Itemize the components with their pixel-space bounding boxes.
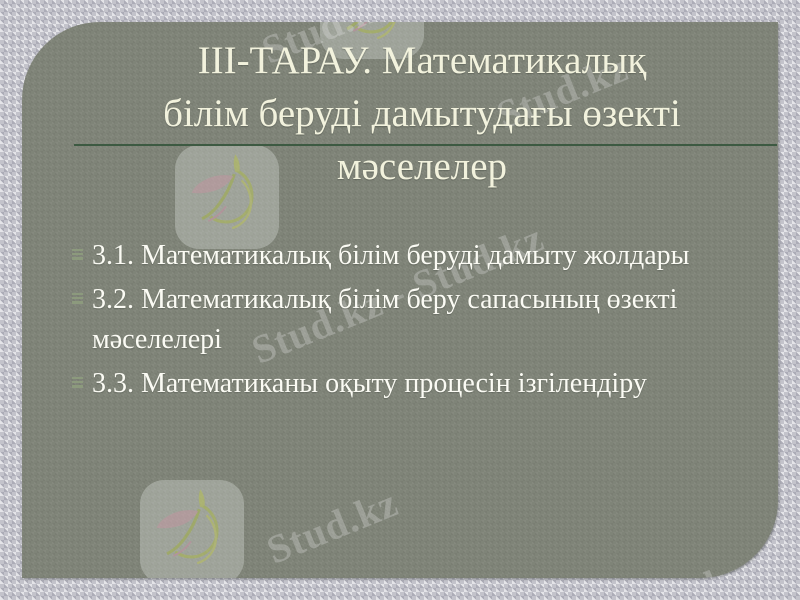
stud-kz-watermark: Stud.kz <box>610 549 755 578</box>
list-marker-icon <box>72 377 83 388</box>
list-marker-icon <box>72 293 83 304</box>
slide-title: III-ТАРАУ. Математикалық білім беруді да… <box>52 34 778 193</box>
presentation-slide: Stud.kzStud.kzStud.kz - Stud.kzStud.kzSt… <box>0 0 800 600</box>
list-marker-icon <box>72 249 83 260</box>
slide-bullet-list: 3.1. Математикалық білім беруді дамыту ж… <box>72 236 772 408</box>
hummingbird-logo-watermark-icon <box>140 480 244 578</box>
title-line-1: III-ТАРАУ. Математикалық <box>52 34 778 87</box>
list-item-label: 3.3. Математиканы оқыту процесін ізгілен… <box>92 364 647 404</box>
list-item: 3.2. Математикалық білім беру сапасының … <box>72 280 772 360</box>
title-divider-rule <box>74 144 777 146</box>
list-item: 3.3. Математиканы оқыту процесін ізгілен… <box>72 364 772 404</box>
slide-content-panel: Stud.kzStud.kzStud.kz - Stud.kzStud.kzSt… <box>22 22 778 578</box>
list-item-label: 3.1. Математикалық білім беруді дамыту ж… <box>92 236 689 276</box>
list-item-label: 3.2. Математикалық білім беру сапасының … <box>92 280 772 360</box>
title-line-2: білім беруді дамытудағы өзекті <box>52 87 778 140</box>
list-item: 3.1. Математикалық білім беруді дамыту ж… <box>72 236 772 276</box>
title-line-3: мәселелер <box>52 140 778 193</box>
stud-kz-watermark: Stud.kz <box>260 479 405 574</box>
